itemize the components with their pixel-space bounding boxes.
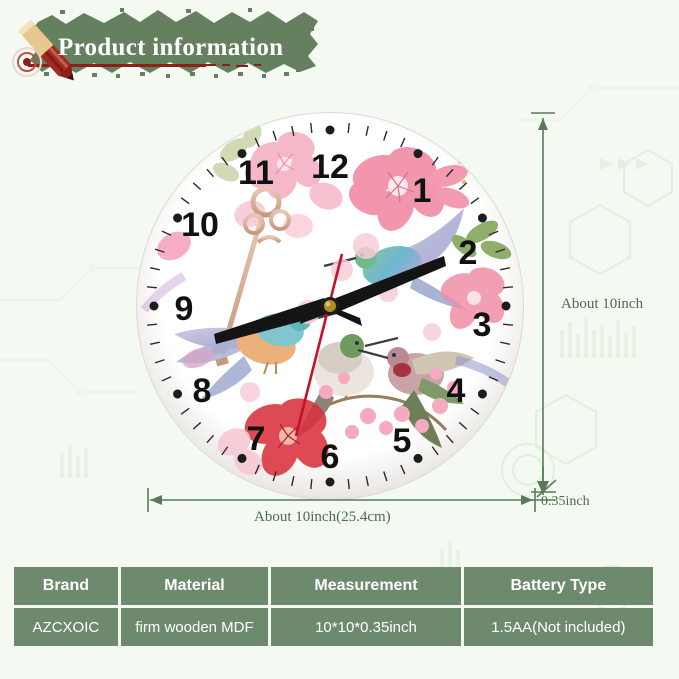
page-title: Product information — [58, 29, 308, 67]
numeral-10: 10 — [181, 206, 219, 244]
product-image: 12 1 2 3 4 5 6 7 8 9 10 11 — [0, 96, 679, 536]
numeral-11: 11 — [238, 154, 274, 192]
numeral-1: 1 — [413, 172, 432, 210]
header-measurement: Measurement — [271, 567, 460, 605]
numeral-9: 9 — [175, 290, 194, 328]
numeral-4: 4 — [447, 372, 466, 410]
table-row: AZCXOIC firm wooden MDF 10*10*0.35inch 1… — [14, 608, 653, 646]
header-material: Material — [121, 567, 268, 605]
numeral-7: 7 — [247, 420, 266, 458]
specification-table: Brand Material Measurement Battery Type … — [11, 564, 656, 649]
table-header-row: Brand Material Measurement Battery Type — [14, 567, 653, 605]
cell-brand: AZCXOIC — [14, 608, 118, 646]
cell-measurement: 10*10*0.35inch — [271, 608, 460, 646]
wall-clock-graphic: 12 1 2 3 4 5 6 7 8 9 10 11 — [130, 106, 530, 516]
numeral-5: 5 — [393, 422, 412, 460]
header-brand: Brand — [14, 567, 118, 605]
numeral-3: 3 — [473, 306, 492, 344]
cell-material: firm wooden MDF — [121, 608, 268, 646]
numeral-8: 8 — [193, 372, 212, 410]
numeral-6: 6 — [321, 438, 340, 476]
header-battery: Battery Type — [464, 567, 653, 605]
numeral-12: 12 — [311, 148, 349, 186]
header-banner: Product information — [0, 0, 679, 96]
cell-battery: 1.5AA(Not included) — [464, 608, 653, 646]
numeral-2: 2 — [459, 234, 478, 272]
